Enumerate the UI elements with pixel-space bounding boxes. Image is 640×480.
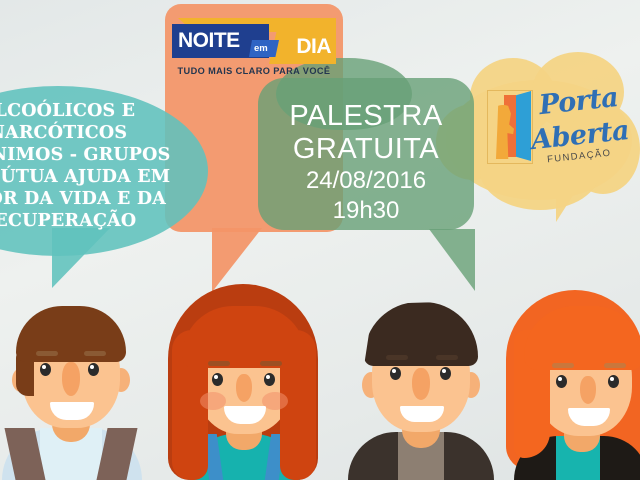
p2-cheek-left xyxy=(200,392,226,410)
p3-eyebrow-right xyxy=(436,355,458,360)
p4-eye-left xyxy=(556,375,567,388)
p4-eyebrow-left xyxy=(552,363,574,368)
p3-mouth xyxy=(400,406,444,422)
person-man-brown-hair xyxy=(0,280,146,480)
logo-dia-text: DIA xyxy=(296,35,331,59)
people-illustration xyxy=(0,280,640,480)
event-poster: ALCOÓLICOS E NARCÓTICOS ANÔNIMOS - GRUPO… xyxy=(0,0,640,480)
p2-eye-right xyxy=(264,373,275,386)
description-line-1: ALCOÓLICOS E xyxy=(0,100,212,122)
p2-eye-left xyxy=(212,373,223,386)
p1-nose xyxy=(62,362,80,396)
p3-nose xyxy=(412,368,430,400)
logo-noite-text: NOITE xyxy=(178,29,240,53)
person-woman-orange-hair xyxy=(498,280,640,480)
p1-eye-right xyxy=(88,363,99,376)
p1-eyebrow-left xyxy=(36,351,58,356)
p3-eyebrow-left xyxy=(386,355,408,360)
description-line-3: ANÔNIMOS - GRUPOS xyxy=(0,144,212,166)
description-line-4: DE MÚTUA AJUDA EM xyxy=(0,166,212,188)
p2-eyebrow-right xyxy=(260,361,282,366)
logo-em-block: em xyxy=(249,40,279,57)
open-door-icon xyxy=(487,90,533,164)
logo-em-text: em xyxy=(254,43,268,54)
noite-em-dia-logo: DIA NOITE em TUDO MAIS CLARO PARA VOCÊ xyxy=(172,18,336,82)
description-text: ALCOÓLICOS E NARCÓTICOS ANÔNIMOS - GRUPO… xyxy=(0,100,212,232)
p2-eyebrow-left xyxy=(208,361,230,366)
p1-eye-left xyxy=(40,363,51,376)
event-title-line-2: GRATUITA xyxy=(258,133,474,166)
p1-eyebrow-right xyxy=(84,351,106,356)
p3-hair xyxy=(364,302,478,366)
person-woman-auburn-hair xyxy=(158,280,328,480)
p3-eye-right xyxy=(440,367,451,380)
porta-aberta-word-1: Porta xyxy=(538,82,620,121)
p4-eyebrow-right xyxy=(604,363,626,368)
p4-nose xyxy=(580,376,596,404)
description-line-5: FAVOR DA VIDA E DA xyxy=(0,188,212,210)
porta-aberta-logo: Porta Aberta FUNDAÇÃO xyxy=(487,88,627,174)
p1-hair xyxy=(16,306,126,362)
event-time: 19h30 xyxy=(258,196,474,226)
person-man-dark-hair xyxy=(340,280,500,480)
p3-eye-left xyxy=(390,367,401,380)
p2-nose xyxy=(236,374,252,402)
description-speech-bubble-tail xyxy=(52,228,110,288)
description-line-6: RECUPERAÇÃO xyxy=(0,210,212,232)
description-line-2: NARCÓTICOS xyxy=(0,122,212,144)
p4-eye-right xyxy=(608,375,619,388)
event-details: PALESTRA GRATUITA 24/08/2016 19h30 xyxy=(258,100,474,226)
logo-dia-block: DIA xyxy=(269,18,336,64)
event-title-line-1: PALESTRA xyxy=(258,100,474,133)
event-date: 24/08/2016 xyxy=(258,166,474,196)
logo-tagline: TUDO MAIS CLARO PARA VOCÊ xyxy=(172,66,336,76)
